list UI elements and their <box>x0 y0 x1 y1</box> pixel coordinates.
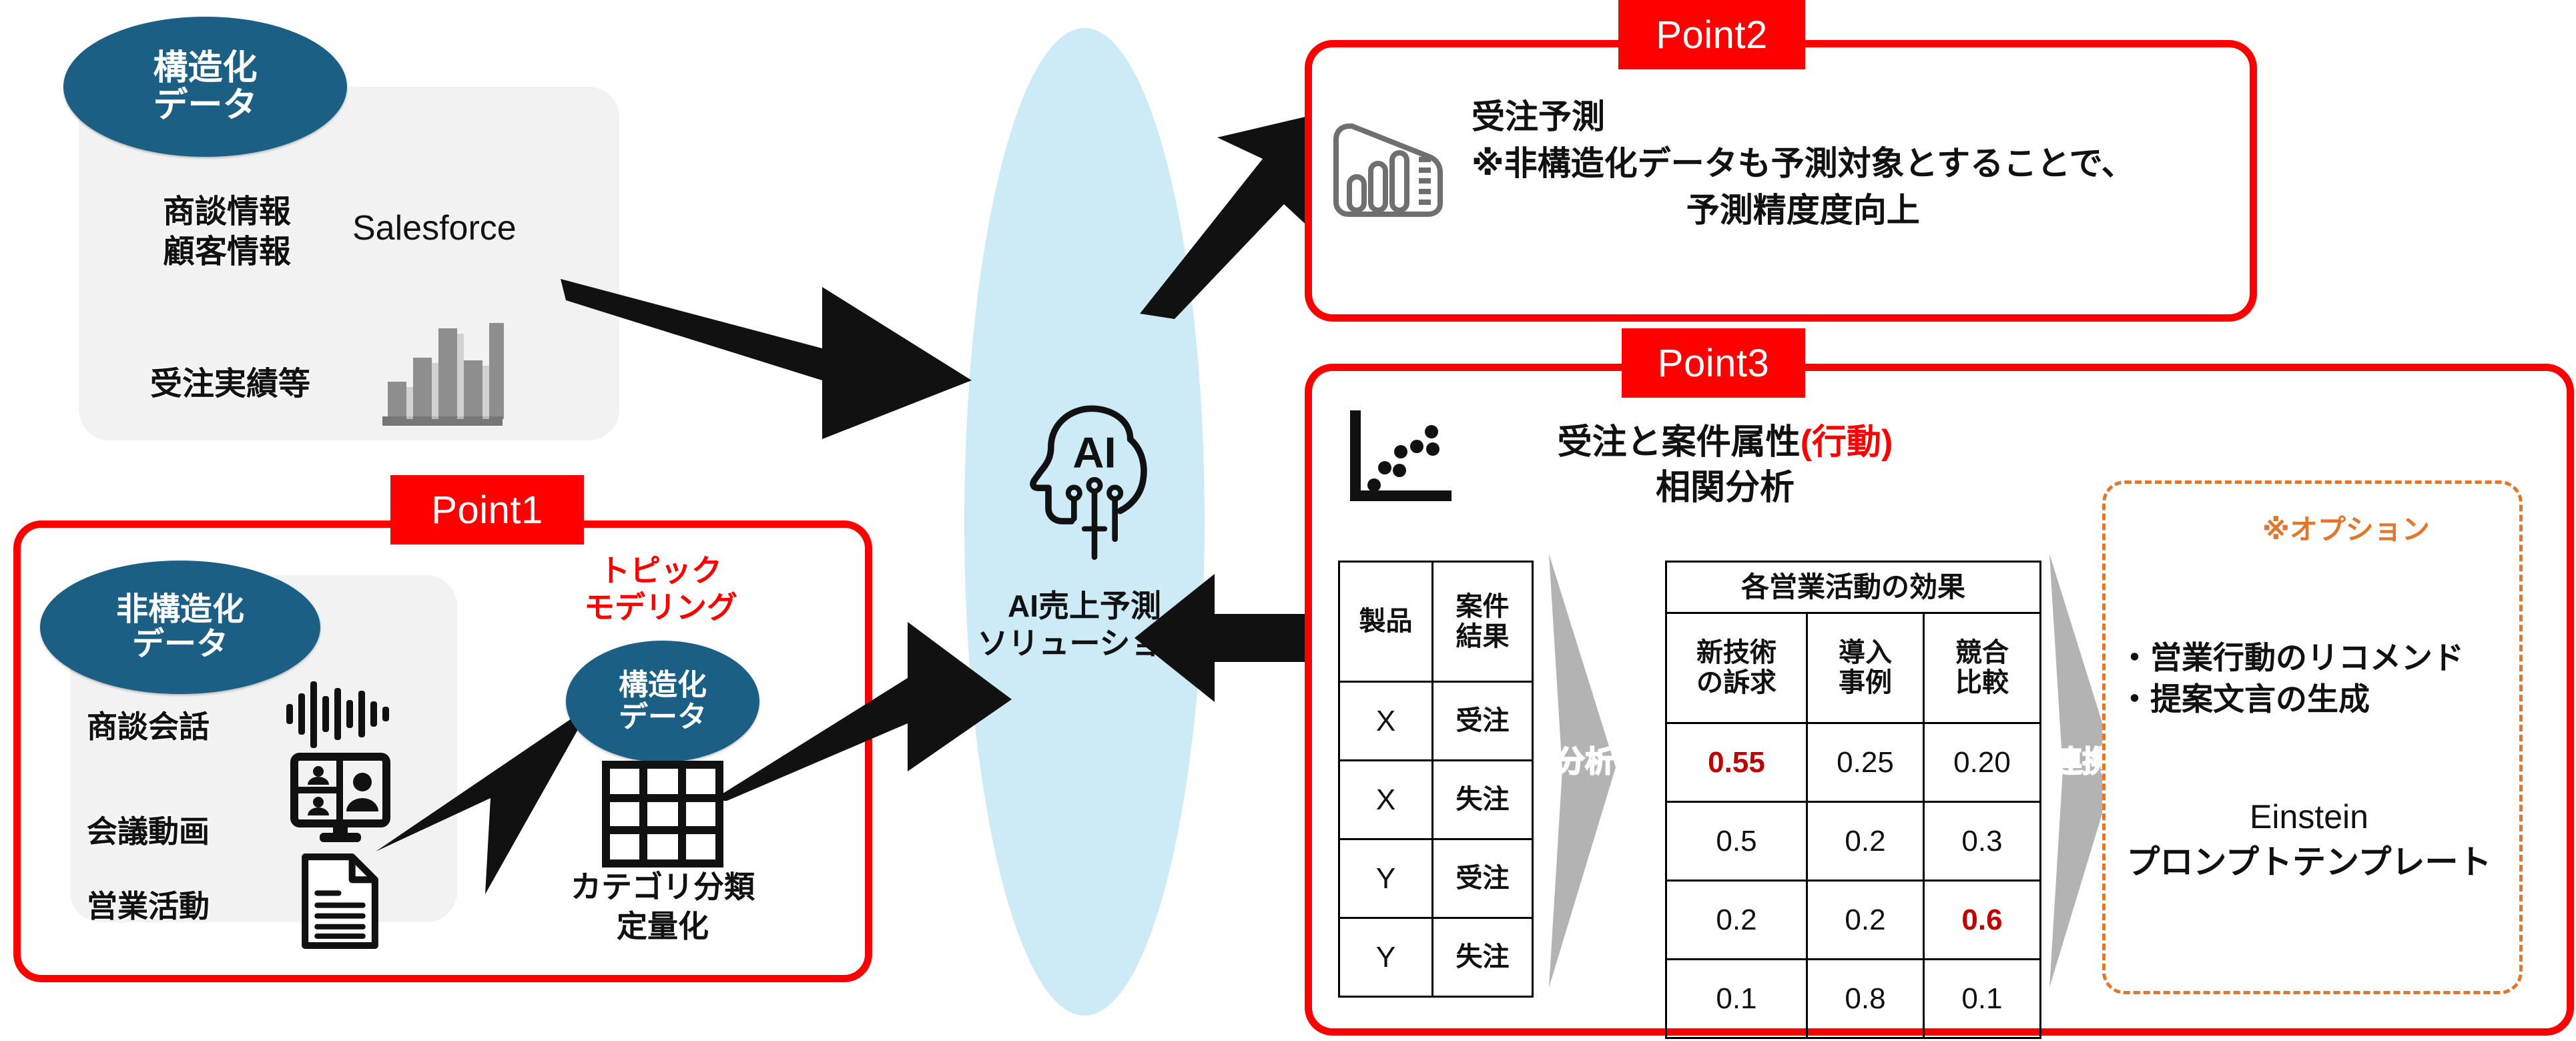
unstructured-data-ellipse-line1: 非構造化 <box>116 593 244 627</box>
option-box <box>2102 480 2523 994</box>
cell-outcome-0: 受注 <box>1433 682 1533 761</box>
sales-activity-header-case-l2: 事例 <box>1809 668 1922 698</box>
product-result-table: 製品 案件 結果 X 受注 X 失注 Y 受注 Y 失注 <box>1338 561 1534 998</box>
category-classification-caption: カテゴリ分類 定量化 <box>553 867 773 946</box>
scatter-plot-icon <box>1345 410 1452 510</box>
sales-activity-header-case: 導入 事例 <box>1807 613 1924 723</box>
topic-modeling-label-line1: トピック <box>554 553 767 589</box>
point2-badge: Point2 <box>1618 0 1805 69</box>
document-icon <box>298 853 382 950</box>
cell-outcome-3: 失注 <box>1433 918 1533 997</box>
point2-line3: 予測精度度向上 <box>1472 187 2135 234</box>
sales-activity-header-newtech: 新技術 の訴求 <box>1666 613 1807 723</box>
option-note: ※オプション <box>2262 507 2430 548</box>
point3-title-line1: 受注と案件属性(行動) <box>1472 420 1979 466</box>
sales-activity-header-newtech-l2: の訴求 <box>1668 668 1805 698</box>
einstein-product-line2: プロンプトテンプレート <box>2109 839 2509 885</box>
category-classification-line1: カテゴリ分類 <box>553 867 773 907</box>
structured-output-ellipse-line2: データ <box>619 701 707 733</box>
point3-title-line2: 相関分析 <box>1472 466 1979 511</box>
cell-compete-2: 0.6 <box>1924 881 2041 960</box>
cell-compete-0: 0.20 <box>1924 723 2041 802</box>
cell-newtech-2: 0.2 <box>1666 881 1807 960</box>
point1-badge: Point1 <box>390 475 584 545</box>
cell-newtech-1: 0.5 <box>1666 802 1807 881</box>
unstructured-data-ellipse: 非構造化 データ <box>40 561 320 694</box>
table-row: 0.1 0.8 0.1 <box>1666 960 2041 1038</box>
cell-outcome-1: 失注 <box>1433 761 1533 839</box>
cell-case-0: 0.25 <box>1807 723 1924 802</box>
structured-item-order-results: 受注実績等 <box>117 357 344 404</box>
table-row: 0.2 0.2 0.6 <box>1666 881 2041 960</box>
sales-activity-header-newtech-l1: 新技術 <box>1668 638 1805 668</box>
unstructured-row-label-0: 商談会話 <box>87 703 210 747</box>
cell-compete-3: 0.1 <box>1924 960 2041 1038</box>
sales-activity-group-header: 各営業活動の効果 <box>1666 562 2041 613</box>
table-row: X 受注 <box>1339 682 1533 761</box>
sales-activity-header-compete: 競合 比較 <box>1924 613 2041 723</box>
einstein-product-label: Einstein プロンプトテンプレート <box>2109 794 2509 885</box>
structured-item-deal-info-line1: 商談情報 <box>117 192 337 232</box>
product-result-header-outcome-l1: 案件 <box>1434 592 1531 622</box>
cell-product-0: X <box>1339 682 1433 761</box>
structured-output-ellipse-line1: 構造化 <box>619 669 707 701</box>
arrow-point1-to-ai <box>707 601 1014 801</box>
sales-activity-effect-table: 各営業活動の効果 新技術 の訴求 導入 事例 競合 比較 0.55 0.25 0… <box>1665 561 2041 1039</box>
dashboard-bars-icon <box>1328 97 1455 217</box>
table-row: Y 受注 <box>1339 839 1533 918</box>
option-bullet-1: ・営業行動のリコメンド <box>2119 637 2506 679</box>
table-row: X 失注 <box>1339 761 1533 839</box>
cell-newtech-3: 0.1 <box>1666 960 1807 1038</box>
sales-activity-header-compete-l2: 比較 <box>1925 668 2039 698</box>
point3-title-main: 受注と案件属性 <box>1558 423 1801 462</box>
cell-product-3: Y <box>1339 918 1433 997</box>
unstructured-row-label-2: 営業活動 <box>87 882 210 926</box>
cell-product-2: Y <box>1339 839 1433 918</box>
point2-line2: ※非構造化データも予測対象とすることで、 <box>1472 140 2135 187</box>
einstein-product-line1: Einstein <box>2109 794 2509 839</box>
sales-activity-header-case-l1: 導入 <box>1809 638 1922 668</box>
sales-activity-header-compete-l1: 競合 <box>1925 638 2039 668</box>
unstructured-data-ellipse-line2: データ <box>132 627 228 662</box>
option-bullets: ・営業行動のリコメンド ・提案文言の生成 <box>2119 637 2506 720</box>
table-row: Y 失注 <box>1339 918 1533 997</box>
category-classification-line2: 定量化 <box>553 907 773 946</box>
structured-data-ellipse: 構造化 データ <box>63 17 347 157</box>
analysis-arrow-label: 分析 <box>1532 737 1638 780</box>
arrow-structured-to-ai <box>561 247 974 440</box>
cell-case-2: 0.2 <box>1807 881 1924 960</box>
structured-data-ellipse-line1: 構造化 <box>153 49 257 87</box>
point3-title-highlight: (行動) <box>1801 423 1893 462</box>
cell-compete-1: 0.3 <box>1924 802 2041 881</box>
structured-item-deal-info-line2: 顧客情報 <box>117 232 337 272</box>
unstructured-row-label-1: 会議動画 <box>87 807 210 851</box>
table-row: 0.5 0.2 0.3 <box>1666 802 2041 881</box>
cell-case-3: 0.8 <box>1807 960 1924 1038</box>
structured-data-ellipse-line2: データ <box>153 87 257 124</box>
ai-head-icon: AI <box>1018 400 1171 581</box>
cell-product-1: X <box>1339 761 1433 839</box>
bar-chart-icon <box>377 320 511 427</box>
point2-text-block: 受注予測 ※非構造化データも予測対象とすることで、 予測精度度向上 <box>1472 93 2135 234</box>
cell-outcome-2: 受注 <box>1433 839 1533 918</box>
product-result-header-outcome-l2: 結果 <box>1434 622 1531 652</box>
option-bullet-2: ・提案文言の生成 <box>2119 679 2506 720</box>
grid-table-icon <box>602 761 723 867</box>
table-row: 0.55 0.25 0.20 <box>1666 723 2041 802</box>
svg-text:AI: AI <box>1072 428 1116 477</box>
product-result-header-outcome: 案件 結果 <box>1433 562 1533 682</box>
product-result-header-product: 製品 <box>1339 562 1433 682</box>
point3-badge: Point3 <box>1622 328 1805 398</box>
salesforce-label: Salesforce <box>352 208 517 248</box>
cell-case-1: 0.2 <box>1807 802 1924 881</box>
point3-title: 受注と案件属性(行動) 相関分析 <box>1472 420 1979 510</box>
structured-item-deal-info: 商談情報 顧客情報 <box>117 192 337 273</box>
point2-line1: 受注予測 <box>1472 93 2135 140</box>
cell-newtech-0: 0.55 <box>1666 723 1807 802</box>
